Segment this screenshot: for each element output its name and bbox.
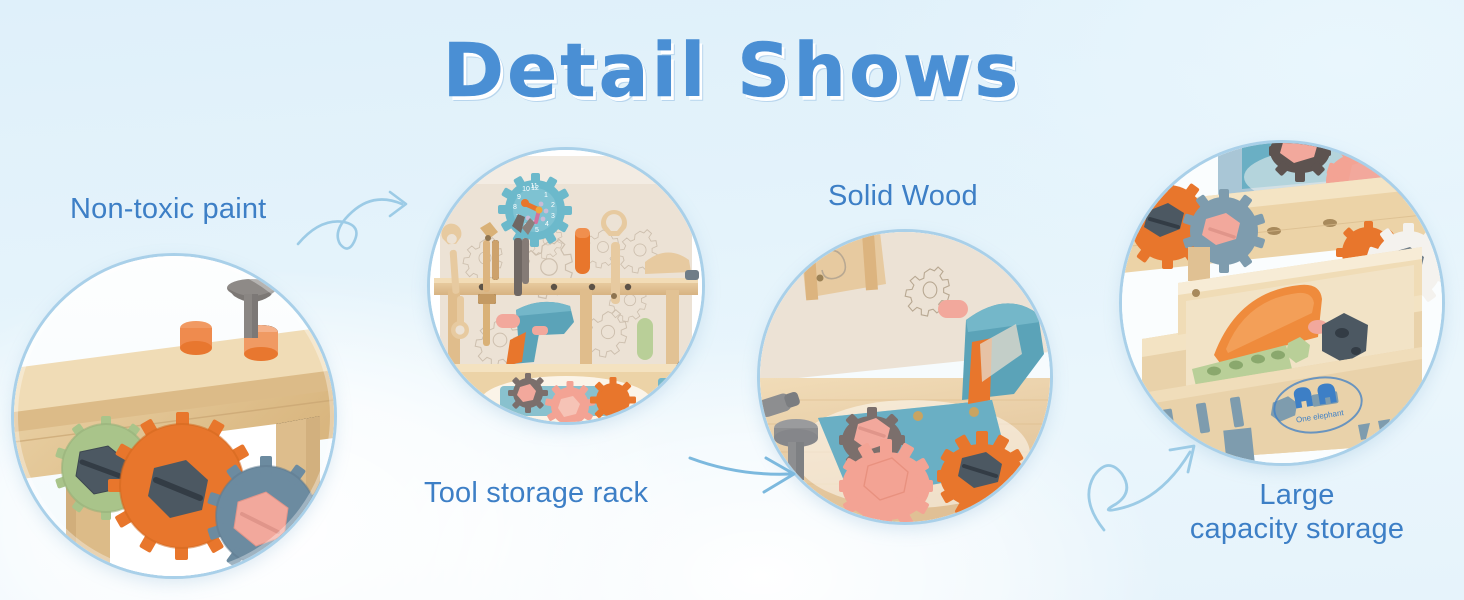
svg-text:4: 4 — [545, 221, 549, 228]
feature-label-solid-wood: Solid Wood — [828, 179, 978, 213]
page-title-wrap: Detail Shows — [0, 28, 1464, 114]
feature-label-large-capacity-storage: Large capacity storage — [1152, 478, 1442, 546]
banner-stage: Detail Shows — [0, 0, 1464, 600]
feature-photo-non-toxic-paint — [14, 256, 334, 576]
svg-text:9: 9 — [517, 194, 521, 201]
svg-text:8: 8 — [513, 204, 517, 211]
feature-photo-solid-wood — [760, 232, 1050, 522]
feature-photo-large-capacity-storage: One elephant — [1122, 143, 1442, 463]
svg-text:3: 3 — [551, 213, 555, 220]
svg-text:5: 5 — [535, 227, 539, 234]
page-title: Detail Shows — [443, 28, 1022, 114]
feature-photo-tool-storage-rack: 1212 345 678 91011 — [430, 150, 702, 422]
svg-text:1: 1 — [544, 192, 548, 199]
feature-label-non-toxic-paint: Non-toxic paint — [70, 192, 266, 226]
feature-label-tool-storage-rack: Tool storage rack — [424, 476, 648, 510]
svg-text:2: 2 — [551, 202, 555, 209]
svg-text:11: 11 — [530, 183, 537, 190]
arrow-1-icon — [296, 182, 432, 258]
svg-text:10: 10 — [522, 186, 530, 193]
